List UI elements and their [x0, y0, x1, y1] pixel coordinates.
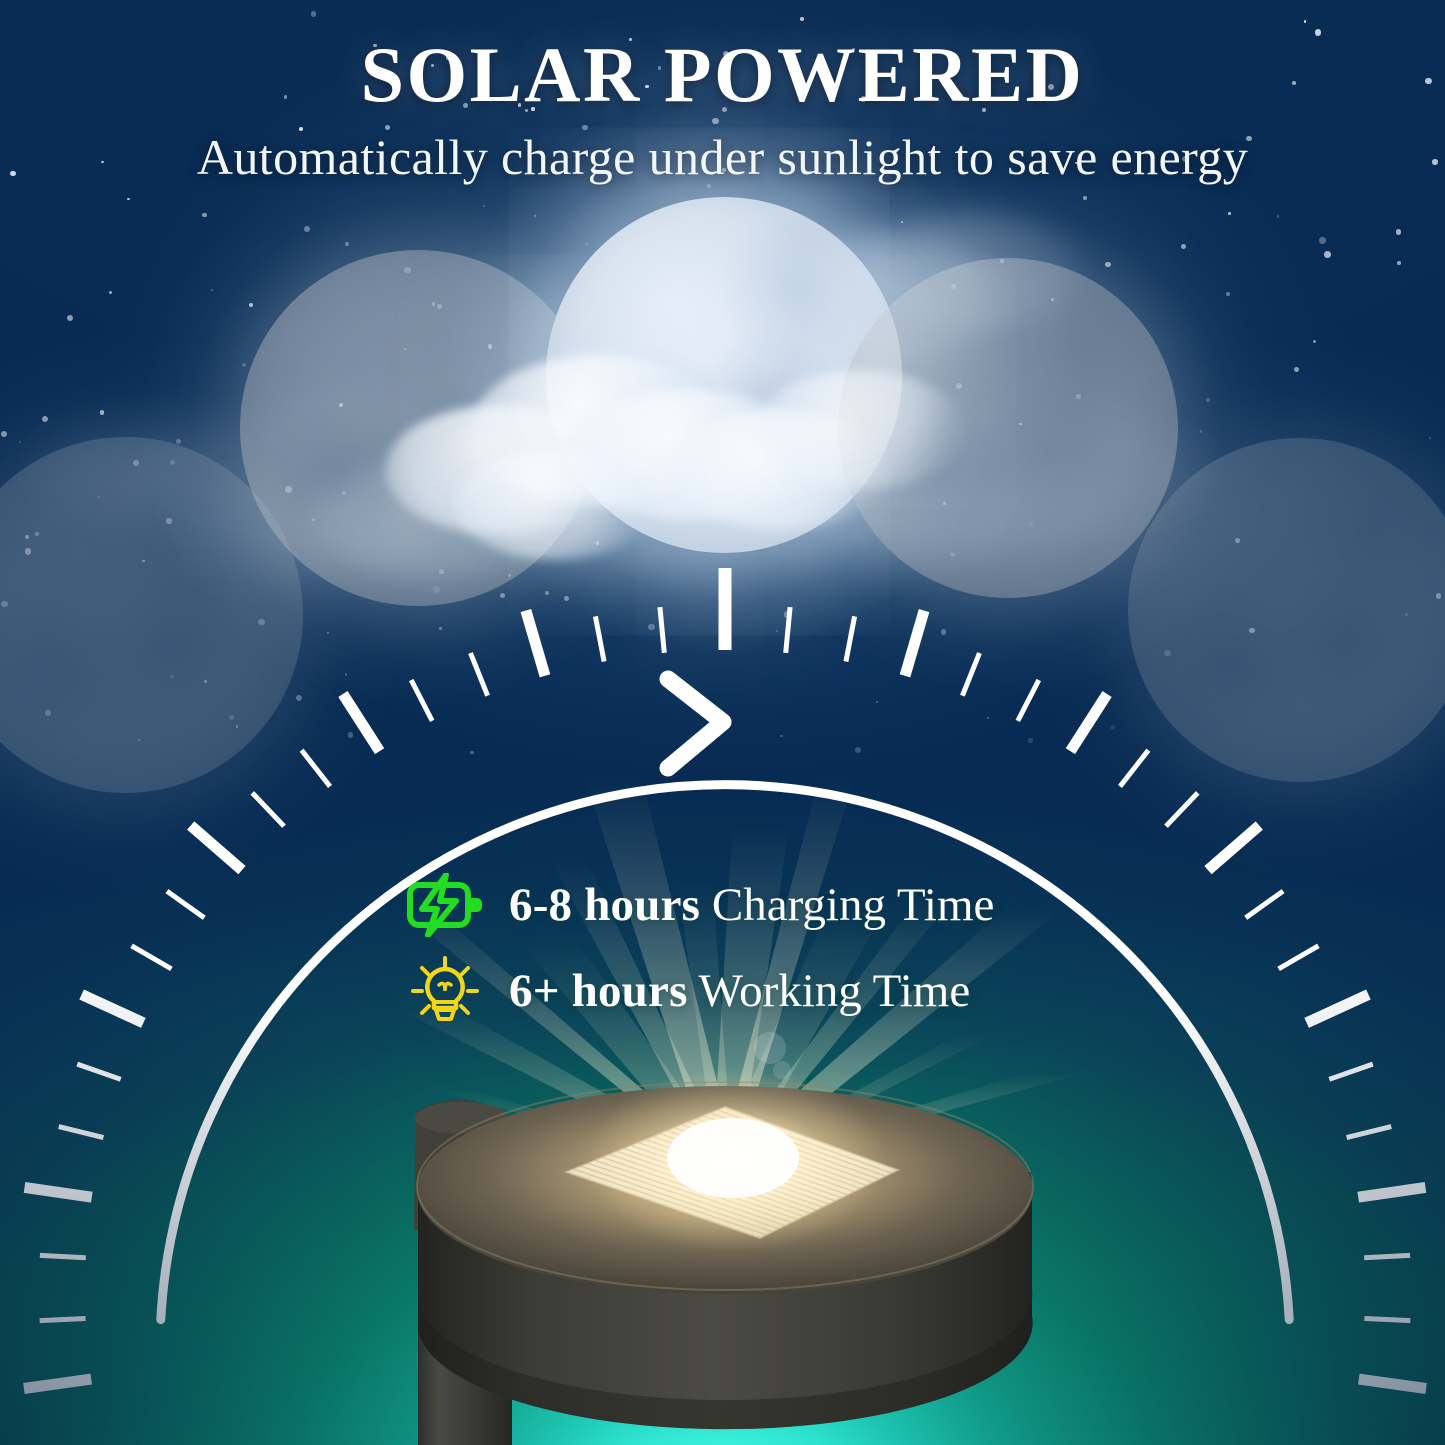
- charging-time-value: 6-8 hours: [509, 879, 700, 931]
- lightbulb-icon: [405, 955, 485, 1027]
- feature-list: 6-8 hours Charging Time: [405, 862, 1125, 1034]
- feature-charging-time-text: 6-8 hours Charging Time: [509, 882, 994, 929]
- page-title: SOLAR POWERED: [0, 30, 1445, 120]
- feature-charging-time: 6-8 hours Charging Time: [405, 862, 1125, 948]
- feature-working-time-text: 6+ hours Working Time: [509, 968, 970, 1015]
- feature-working-time: 6+ hours Working Time: [405, 948, 1125, 1034]
- battery-charging-icon: [405, 869, 485, 941]
- infographic-canvas: SOLAR POWERED Automatically charge under…: [0, 0, 1445, 1445]
- charging-time-label: Charging Time: [712, 879, 995, 931]
- moon-far-right: [1128, 438, 1445, 782]
- page-subtitle: Automatically charge under sunlight to s…: [0, 128, 1445, 186]
- working-time-value: 6+ hours: [509, 965, 688, 1017]
- working-time-label: Working Time: [698, 965, 970, 1017]
